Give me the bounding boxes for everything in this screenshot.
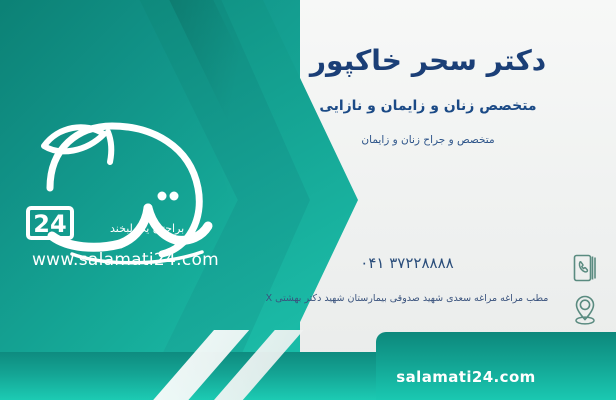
svg-text:24: 24 [33,210,66,238]
logo-tagline: براحتی یک لبخند [110,222,238,235]
address-row: مطب مراغه مراغه سعدی شهید صدوقی بیمارستا… [248,290,604,330]
business-card: 24 براحتی یک لبخند www.salamati24.com دک… [0,0,616,400]
phone-number[interactable]: ۳۷۲۲۸۸۸۸ ۰۴۱ [248,248,566,272]
phone-row: ۳۷۲۲۸۸۸۸ ۰۴۱ [248,248,604,288]
badge-24: 24 [28,208,72,238]
doctor-specialty-primary: متخصص زنان و زایمان و نازایی [258,98,598,114]
footer-website-url[interactable]: salamati24.com [316,368,616,386]
clinic-address[interactable]: مطب مراغه مراغه سعدی شهید صدوقی بیمارستا… [248,290,566,306]
logo-website-url: www.salamati24.com [18,250,233,270]
footer-bar-right-block [376,332,616,400]
map-pin-icon [566,290,604,330]
doctor-name: دکتر سحر خاکپور [258,44,598,77]
salamati24-logo: 24 [12,96,240,276]
doctor-specialty-secondary: متخصص و جراح زنان و زایمان [258,134,598,146]
phonebook-icon [566,248,604,288]
